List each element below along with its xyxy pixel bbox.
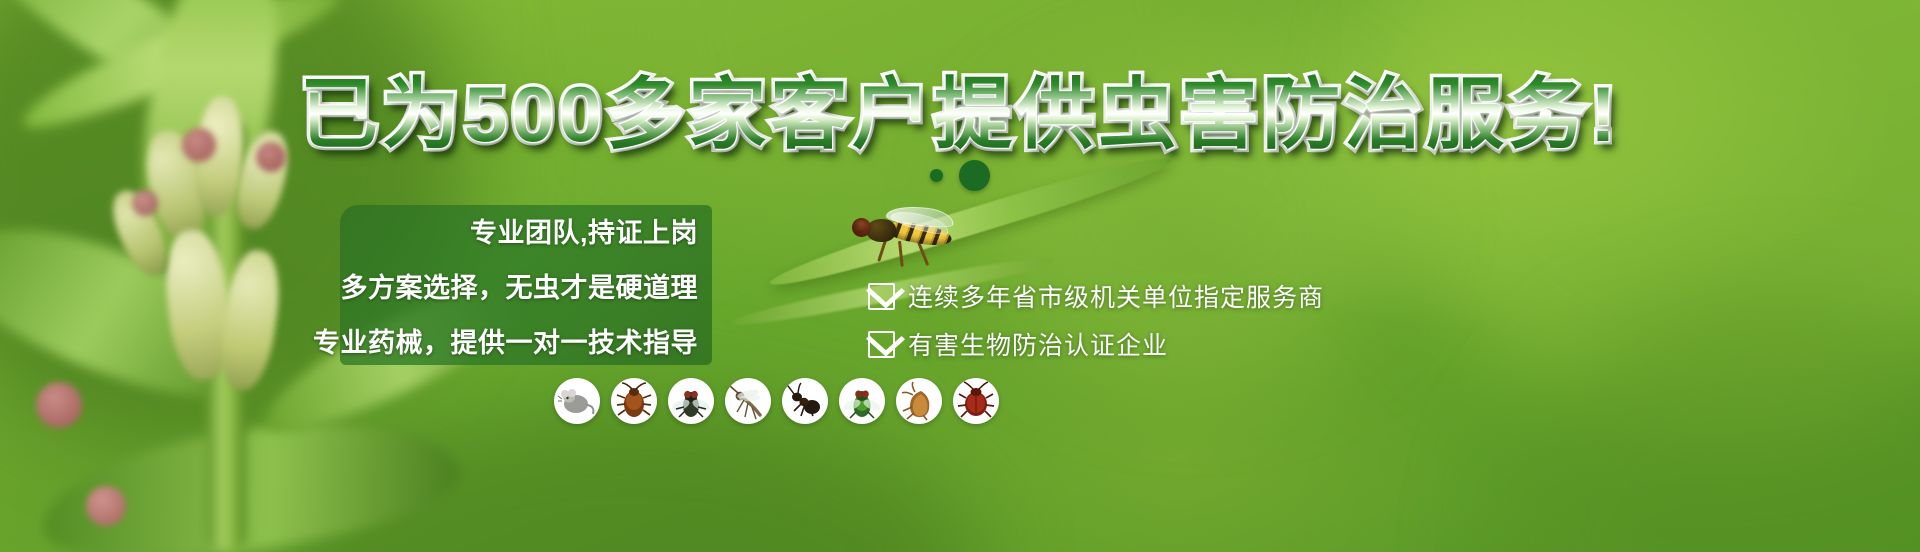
promo-banner: 已为500多家客户提供虫害防治服务! 已为500多家客户提供虫害防治服务! 专业… — [0, 0, 1920, 552]
greenfly-icon[interactable] — [839, 378, 885, 424]
small-dot-icon — [930, 169, 943, 182]
bedbug-icon[interactable] — [953, 378, 999, 424]
checklist-item: 连续多年省市级机关单位指定服务商 — [868, 272, 1324, 320]
cockroach-icon[interactable] — [611, 378, 657, 424]
large-dot-icon — [959, 160, 990, 191]
feature-line-3: 专业药械，提供一对一技术指导 — [313, 321, 698, 360]
mosquito-icon[interactable] — [725, 378, 771, 424]
ant-icon[interactable] — [782, 378, 828, 424]
feature-line-1: 专业团队,持证上岗 — [470, 211, 698, 250]
pest-icon-strip — [554, 378, 999, 424]
bokeh-blob — [1380, 0, 1920, 440]
checklist-item-label: 有害生物防治认证企业 — [908, 326, 1168, 362]
page-title: 已为500多家客户提供虫害防治服务! — [0, 68, 1920, 160]
decorative-dots — [0, 160, 1920, 191]
checklist-item: 有害生物防治认证企业 — [868, 320, 1324, 368]
checklist-item-label: 连续多年省市级机关单位指定服务商 — [908, 278, 1324, 314]
bokeh-blob — [1500, 300, 1920, 552]
credential-checklist: 连续多年省市级机关单位指定服务商 有害生物防治认证企业 — [868, 272, 1324, 368]
checkbox-checked-icon — [868, 283, 895, 310]
flea-icon[interactable] — [896, 378, 942, 424]
feature-panel-text: 专业团队,持证上岗 多方案选择，无虫才是硬道理 专业药械，提供一对一技术指导 — [340, 205, 712, 365]
hoverfly-icon — [850, 210, 970, 270]
mouse-icon[interactable] — [554, 378, 600, 424]
housefly-icon[interactable] — [668, 378, 714, 424]
fly-eye — [854, 220, 866, 233]
feature-line-2: 多方案选择，无虫才是硬道理 — [341, 266, 699, 305]
checkbox-checked-icon — [868, 331, 895, 358]
